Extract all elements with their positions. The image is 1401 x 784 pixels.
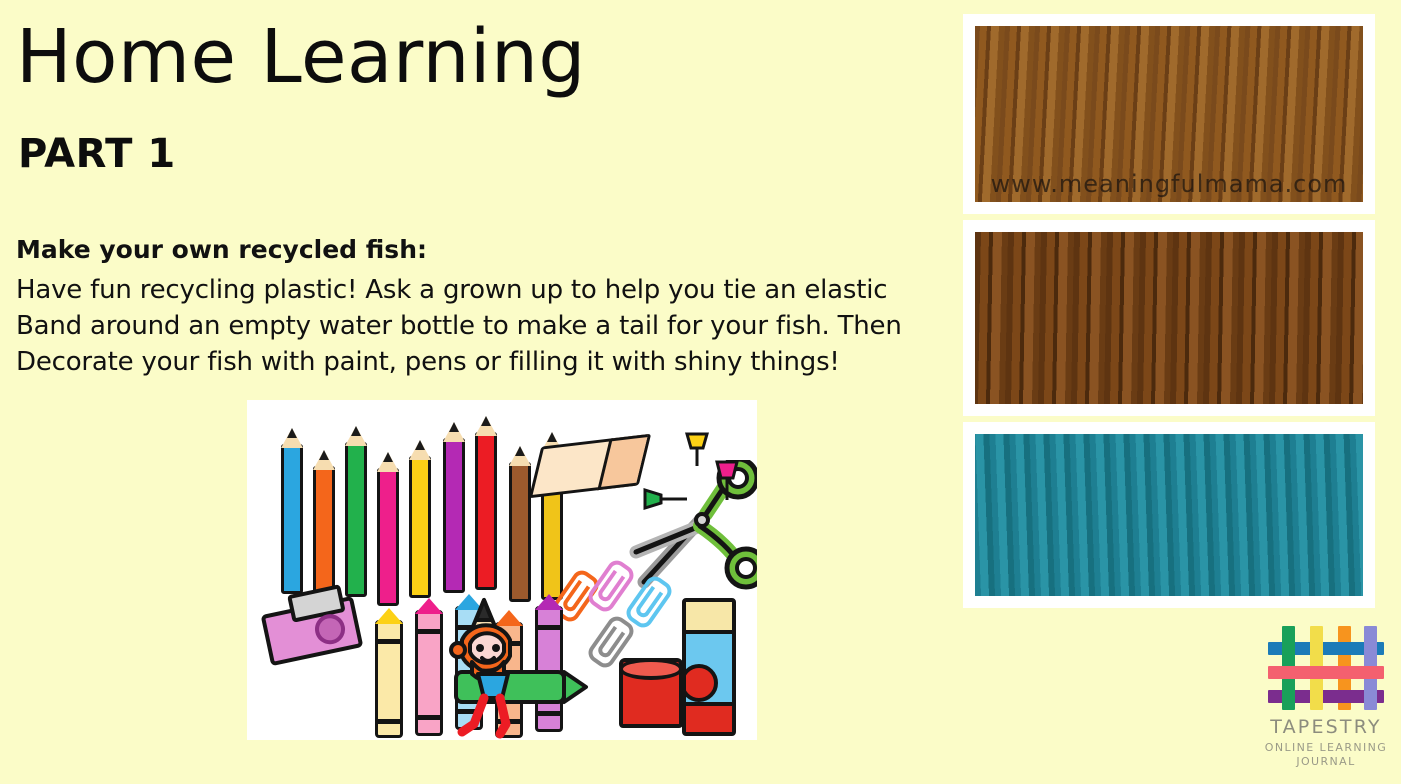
logo-wordmark: TAPESTRY (1256, 716, 1396, 738)
instructions-heading: Make your own recycled fish: (16, 232, 966, 268)
tapestry-weave-icon (1268, 626, 1384, 710)
pencil-icon (509, 462, 531, 602)
crayon-icon (415, 610, 443, 736)
pencil-icon (409, 456, 431, 598)
wood-background (975, 232, 1363, 404)
instructions-block: Make your own recycled fish: Have fun re… (16, 232, 966, 380)
pencil-icon (443, 438, 465, 593)
photo-bottle-with-elastic-band (963, 220, 1375, 416)
mascot-character-icon (442, 590, 592, 740)
instructions-line-2: Band around an empty water bottle to mak… (16, 308, 966, 344)
water-background (975, 434, 1363, 596)
photo-finished-painted-fish (963, 422, 1375, 608)
pencil-sharpener-icon (261, 596, 364, 666)
photo-empty-bottle: www.meaningfulmama.com (963, 14, 1375, 214)
page-title: Home Learning (16, 12, 586, 102)
logo-tagline-line-1: ONLINE LEARNING (1256, 741, 1396, 755)
pencil-icon (281, 444, 303, 594)
photo-finished-fish-image (975, 434, 1363, 596)
glue-stick-icon (682, 598, 736, 736)
logo-horizontal-bar (1268, 666, 1384, 679)
photo-bottle-band-image (975, 232, 1363, 404)
photo-empty-bottle-image: www.meaningfulmama.com (975, 26, 1363, 202)
photo-watermark: www.meaningfulmama.com (975, 170, 1363, 198)
slide-root: Home Learning PART 1 Make your own recyc… (0, 0, 1401, 784)
pencil-icon (345, 442, 367, 597)
tapestry-logo: TAPESTRY ONLINE LEARNING JOURNAL (1256, 626, 1396, 769)
pencil-icon (313, 466, 335, 601)
school-supplies-clipart (247, 400, 757, 740)
logo-tagline: ONLINE LEARNING JOURNAL (1256, 741, 1396, 769)
pencil-icon (475, 432, 497, 590)
push-pin-icon (709, 458, 745, 506)
part-subtitle: PART 1 (18, 128, 176, 180)
push-pin-icon (639, 484, 695, 514)
glue-pot-icon (619, 658, 683, 728)
pencil-icon (377, 468, 399, 606)
logo-tagline-line-2: JOURNAL (1256, 755, 1396, 769)
crayon-icon (375, 620, 403, 738)
instructions-line-1: Have fun recycling plastic! Ask a grown … (16, 272, 966, 308)
instructions-line-3: Decorate your fish with paint, pens or f… (16, 344, 966, 380)
